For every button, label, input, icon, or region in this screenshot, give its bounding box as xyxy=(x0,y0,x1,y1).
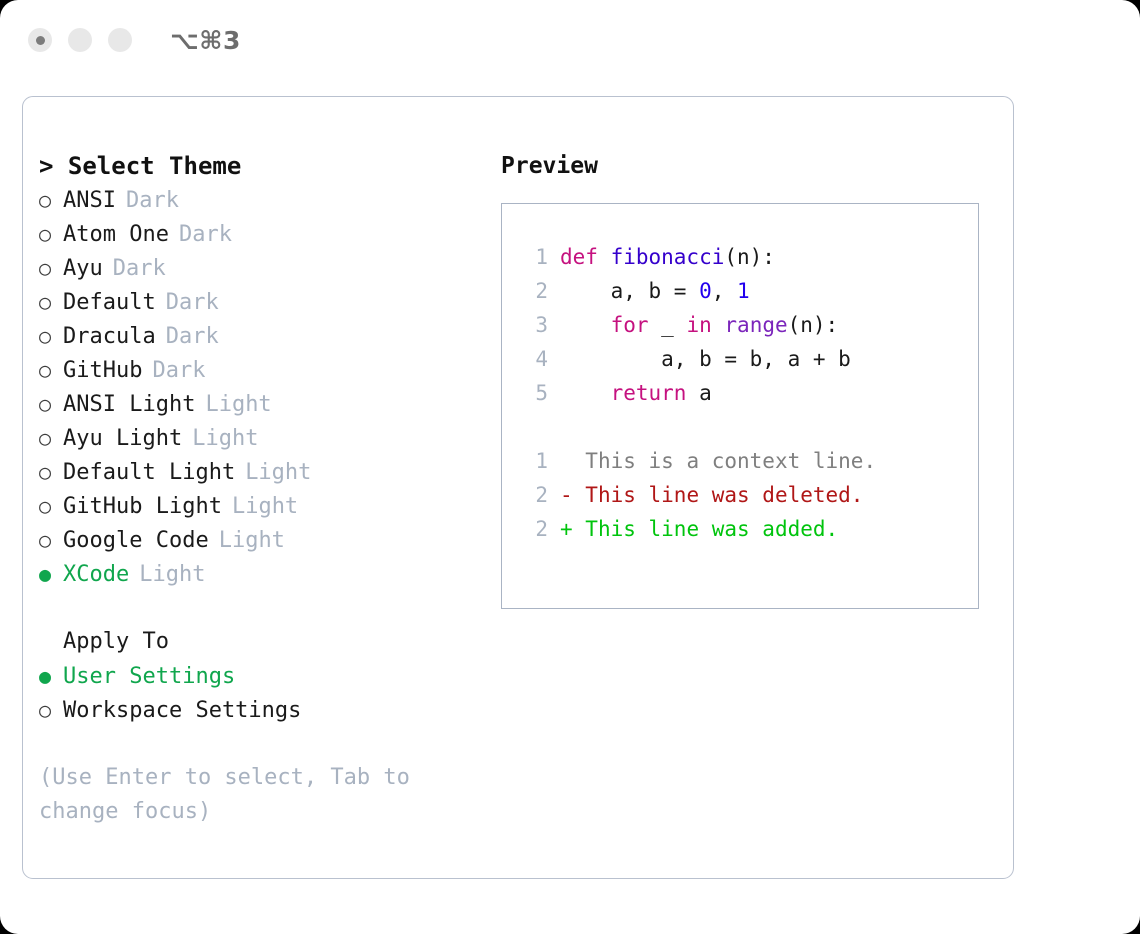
radio-unselected-icon: ○ xyxy=(39,251,63,285)
theme-option-label: ANSI xyxy=(63,184,116,218)
theme-option-kind: Light xyxy=(192,422,258,456)
code-token-num: 1 xyxy=(737,279,750,303)
code-token-pl: a, b = xyxy=(560,279,699,303)
theme-list: ○ANSIDark○Atom OneDark○AyuDark○DefaultDa… xyxy=(39,183,499,591)
list-spacer xyxy=(39,591,499,625)
theme-option[interactable]: ○Default LightLight xyxy=(39,455,499,489)
theme-option-label: Default xyxy=(63,286,156,320)
theme-option-kind: Light xyxy=(205,388,271,422)
diff-line-number: 2 xyxy=(518,478,548,512)
theme-option[interactable]: ○GitHub LightLight xyxy=(39,489,499,523)
theme-option[interactable]: ○Google CodeLight xyxy=(39,523,499,557)
code-token-bi: range xyxy=(724,313,787,337)
diff-line: 1 This is a context line. xyxy=(518,444,978,478)
code-token-pl xyxy=(560,381,611,405)
keyboard-hint: (Use Enter to select, Tab to change focu… xyxy=(39,761,439,829)
radio-unselected-icon: ○ xyxy=(39,693,63,727)
code-line-content: return a xyxy=(560,376,712,410)
radio-unselected-icon: ○ xyxy=(39,217,63,251)
content-panel: > Select Theme ○ANSIDark○Atom OneDark○Ay… xyxy=(22,96,1014,879)
theme-option-kind: Dark xyxy=(113,252,166,286)
theme-option[interactable]: ○DraculaDark xyxy=(39,319,499,353)
radio-unselected-icon: ○ xyxy=(39,319,63,353)
theme-option-label: GitHub Light xyxy=(63,490,222,524)
two-column-layout: > Select Theme ○ANSIDark○Atom OneDark○Ay… xyxy=(23,97,1013,878)
code-line-number: 2 xyxy=(518,274,548,308)
theme-option[interactable]: ○ANSI LightLight xyxy=(39,387,499,421)
code-token-pl: a, b = b, a + b xyxy=(560,347,851,371)
code-line-number: 5 xyxy=(518,376,548,410)
diff-line-text: This line was deleted. xyxy=(585,478,863,512)
apply-to-option[interactable]: ○Workspace Settings xyxy=(39,693,499,727)
theme-option-label: Ayu xyxy=(63,252,103,286)
theme-option-kind: Dark xyxy=(126,184,179,218)
preview-title: Preview xyxy=(501,149,1001,183)
theme-option-kind: Light xyxy=(245,456,311,490)
code-token-pl: , xyxy=(712,279,737,303)
code-token-pl: (n): xyxy=(788,313,839,337)
title-bar: ⌥⌘3 xyxy=(0,0,1140,80)
theme-option-label: Ayu Light xyxy=(63,422,182,456)
diff-marker: - xyxy=(560,478,585,512)
radio-unselected-icon: ○ xyxy=(39,489,63,523)
radio-unselected-icon: ○ xyxy=(39,387,63,421)
theme-option[interactable]: ○Ayu LightLight xyxy=(39,421,499,455)
code-line: 5 return a xyxy=(518,376,978,410)
apply-to-option[interactable]: ●User Settings xyxy=(39,659,499,693)
radio-selected-icon: ● xyxy=(39,557,63,591)
code-sample: 1def fibonacci(n):2 a, b = 0, 13 for _ i… xyxy=(518,240,978,410)
diff-line-number: 1 xyxy=(518,444,548,478)
traffic-light-3-icon[interactable] xyxy=(108,28,132,52)
diff-line: 2+ This line was added. xyxy=(518,512,978,546)
theme-option-kind: Light xyxy=(232,490,298,524)
code-preview-box: 1def fibonacci(n):2 a, b = 0, 13 for _ i… xyxy=(501,203,979,609)
code-token-kw: in xyxy=(686,313,711,337)
radio-unselected-icon: ○ xyxy=(39,285,63,319)
theme-option-label: Default Light xyxy=(63,456,235,490)
radio-unselected-icon: ○ xyxy=(39,455,63,489)
radio-selected-icon: ● xyxy=(39,659,63,693)
preview-column: Preview 1def fibonacci(n):2 a, b = 0, 13… xyxy=(501,149,1001,609)
theme-option-kind: Light xyxy=(219,524,285,558)
theme-option[interactable]: ○AyuDark xyxy=(39,251,499,285)
theme-option[interactable]: ○Atom OneDark xyxy=(39,217,499,251)
code-line: 4 a, b = b, a + b xyxy=(518,342,978,376)
code-diff-separator xyxy=(518,410,978,444)
code-token-pl: a xyxy=(686,381,711,405)
radio-unselected-icon: ○ xyxy=(39,183,63,217)
apply-to-list: ●User Settings○Workspace Settings xyxy=(39,659,499,727)
theme-option[interactable]: ○GitHubDark xyxy=(39,353,499,387)
theme-option-kind: Dark xyxy=(166,286,219,320)
theme-option-kind: Dark xyxy=(152,354,205,388)
radio-unselected-icon: ○ xyxy=(39,421,63,455)
code-token-pl: (n): xyxy=(724,245,775,269)
code-token-fn: fibonacci xyxy=(611,245,725,269)
keyboard-shortcut-label: ⌥⌘3 xyxy=(170,26,241,55)
theme-option-label: Dracula xyxy=(63,320,156,354)
theme-option-kind: Light xyxy=(139,558,205,592)
diff-line: 2- This line was deleted. xyxy=(518,478,978,512)
diff-sample: 1 This is a context line.2- This line wa… xyxy=(518,444,978,546)
theme-option-label: GitHub xyxy=(63,354,142,388)
diff-line-number: 2 xyxy=(518,512,548,546)
theme-option-label: Google Code xyxy=(63,524,209,558)
code-token-pl xyxy=(560,313,611,337)
code-token-kw: return xyxy=(611,381,687,405)
theme-option-kind: Dark xyxy=(166,320,219,354)
traffic-light-2-icon[interactable] xyxy=(68,28,92,52)
page-title: > Select Theme xyxy=(39,149,499,183)
code-line: 2 a, b = 0, 1 xyxy=(518,274,978,308)
traffic-light-active-dot xyxy=(36,36,45,45)
diff-line-text: This is a context line. xyxy=(585,444,876,478)
theme-option-label: ANSI Light xyxy=(63,388,195,422)
apply-to-option-label: User Settings xyxy=(63,660,235,694)
code-line: 1def fibonacci(n): xyxy=(518,240,978,274)
code-token-kw: for xyxy=(611,313,649,337)
code-line-number: 3 xyxy=(518,308,548,342)
code-line: 3 for _ in range(n): xyxy=(518,308,978,342)
code-token-kw: def xyxy=(560,245,611,269)
app-window: ⌥⌘3 > Select Theme ○ANSIDark○Atom OneDar… xyxy=(0,0,1140,934)
code-line-content: a, b = b, a + b xyxy=(560,342,851,376)
theme-option-label: Atom One xyxy=(63,218,169,252)
diff-marker: + xyxy=(560,512,585,546)
code-line-number: 1 xyxy=(518,240,548,274)
traffic-light-1-icon[interactable] xyxy=(28,28,52,52)
theme-option[interactable]: ○DefaultDark xyxy=(39,285,499,319)
code-line-number: 4 xyxy=(518,342,548,376)
theme-picker-column: > Select Theme ○ANSIDark○Atom OneDark○Ay… xyxy=(39,149,499,829)
radio-unselected-icon: ○ xyxy=(39,523,63,557)
code-token-pl: _ xyxy=(649,313,687,337)
code-line-content: a, b = 0, 1 xyxy=(560,274,750,308)
theme-option-kind: Dark xyxy=(179,218,232,252)
apply-to-option-label: Workspace Settings xyxy=(63,694,301,728)
code-line-content: for _ in range(n): xyxy=(560,308,838,342)
code-token-pl xyxy=(712,313,725,337)
theme-option[interactable]: ●XCodeLight xyxy=(39,557,499,591)
code-token-num: 0 xyxy=(699,279,712,303)
theme-option-label: XCode xyxy=(63,558,129,592)
diff-marker xyxy=(560,444,585,478)
radio-unselected-icon: ○ xyxy=(39,353,63,387)
diff-line-text: This line was added. xyxy=(585,512,838,546)
theme-option[interactable]: ○ANSIDark xyxy=(39,183,499,217)
apply-to-heading: Apply To xyxy=(63,625,499,659)
code-line-content: def fibonacci(n): xyxy=(560,240,775,274)
